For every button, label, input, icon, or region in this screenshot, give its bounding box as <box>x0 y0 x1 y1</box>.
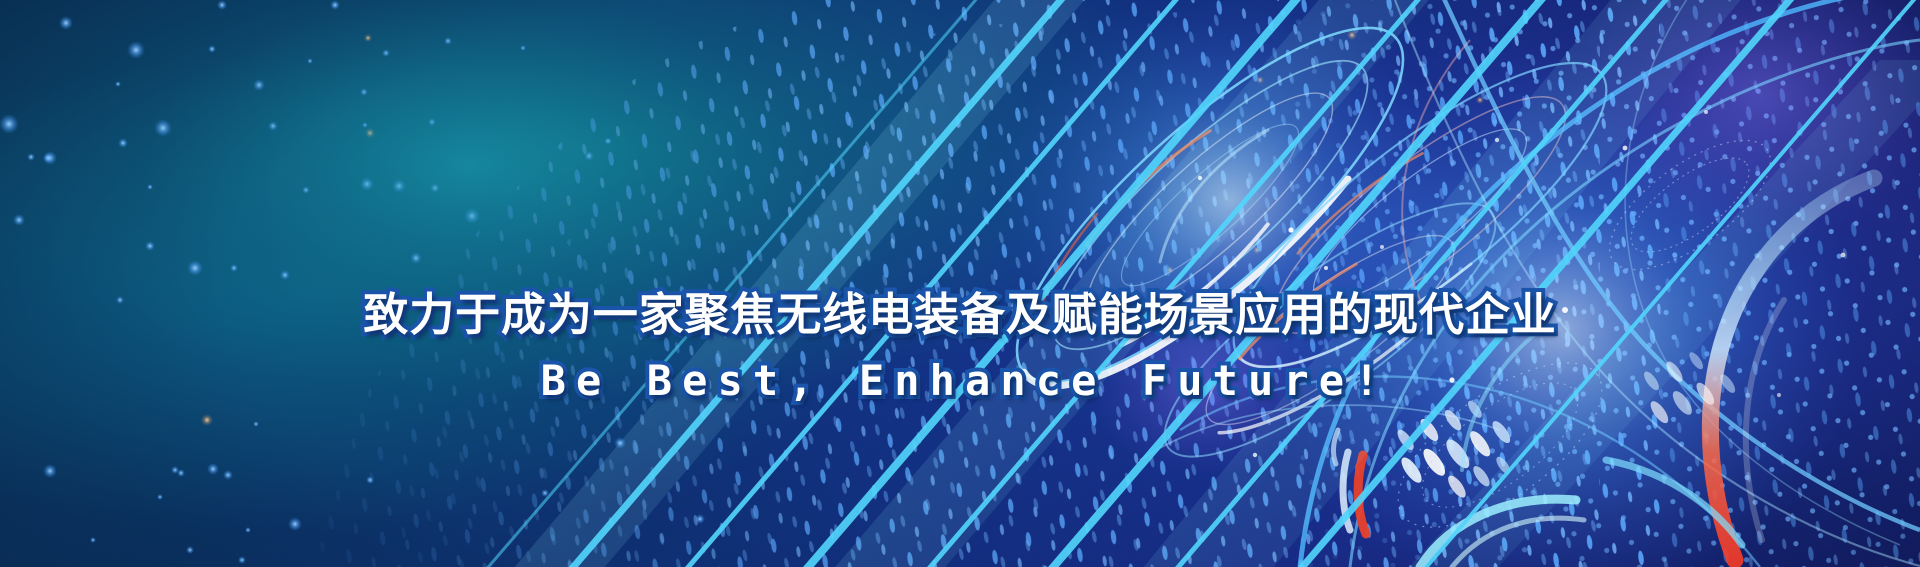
red-accent-bar <box>1334 430 1366 534</box>
diagonal-dash-particle-field <box>300 0 1660 567</box>
headline-block: 致力于成为一家聚焦无线电装备及赋能场景应用的现代企业 Be Best, Enha… <box>0 286 1920 406</box>
hero-banner: 致力于成为一家聚焦无线电装备及赋能场景应用的现代企业 Be Best, Enha… <box>0 0 1920 567</box>
large-orbit-arcs <box>1140 0 1920 567</box>
headline-english: Be Best, Enhance Future! <box>0 355 1920 406</box>
background-gradient <box>0 0 1920 567</box>
orbital-ellipse-rings <box>972 0 1645 494</box>
radial-dot-field <box>1290 0 1920 567</box>
diagonal-light-beams <box>0 0 1920 567</box>
right-dash-field <box>1430 0 1920 567</box>
violet-glow-top <box>1570 0 1920 245</box>
bokeh-dot-field <box>0 0 1920 567</box>
headline-chinese: 致力于成为一家聚焦无线电装备及赋能场景应用的现代企业 <box>0 286 1920 345</box>
vignette-overlay <box>0 0 1920 567</box>
banner-artwork <box>0 0 1920 567</box>
